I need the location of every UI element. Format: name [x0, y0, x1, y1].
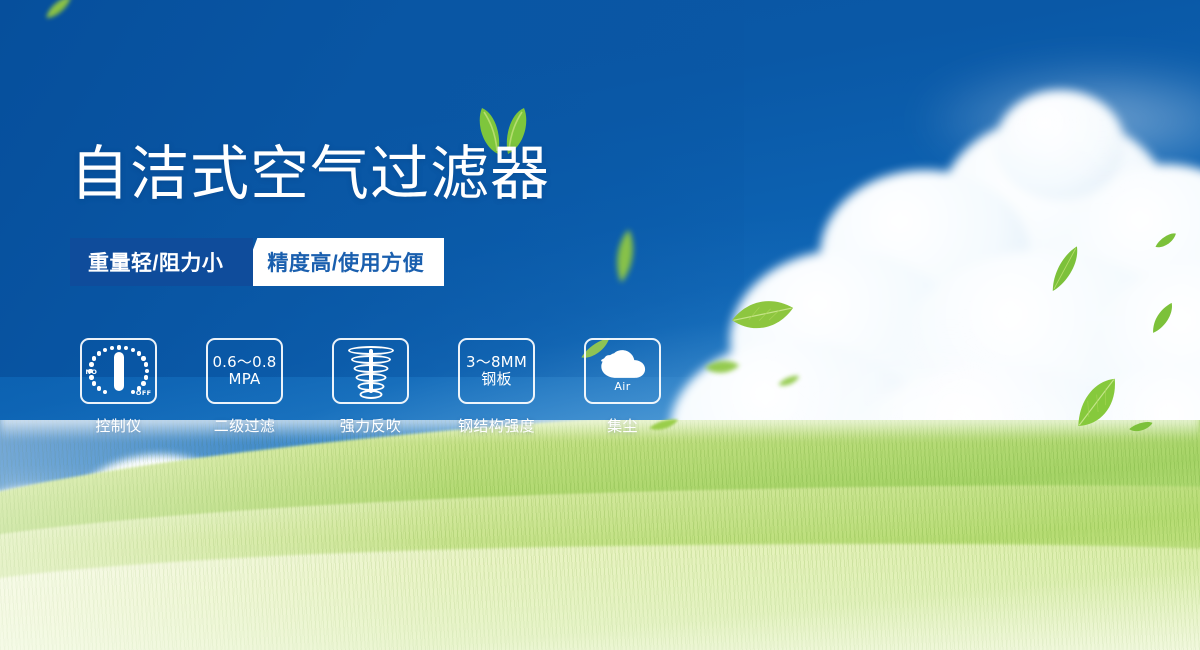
feature-item-controller[interactable]: NO OFF 控制仪: [80, 338, 157, 436]
feature-label: 钢结构强度: [458, 415, 535, 436]
feature-icon-text: 0.6～0.8: [212, 353, 276, 371]
feature-icon-box: [332, 338, 409, 404]
tagline-badge-secondary: 精度高/使用方便: [239, 238, 444, 286]
product-hero-banner: 自洁式空气过滤器 重量轻/阻力小 精度高/使用方便: [0, 0, 1200, 650]
feature-item-steel-strength[interactable]: 3～8MM 钢板 钢结构强度: [458, 338, 535, 436]
feature-icon-subtext: Air: [614, 380, 630, 393]
pressure-text-icon: 0.6～0.8 MPA: [212, 354, 276, 388]
feature-item-two-stage-filter[interactable]: 0.6～0.8 MPA 二级过滤: [206, 338, 283, 436]
tagline-badges: 重量轻/阻力小 精度高/使用方便: [70, 238, 444, 286]
dial-no-label: NO: [86, 368, 98, 376]
dial-needle-icon: [114, 352, 124, 391]
feature-icon-subtext: MPA: [212, 371, 276, 388]
feature-icon-box: 3～8MM 钢板: [458, 338, 535, 404]
feature-label: 控制仪: [95, 415, 141, 436]
grass-field: [0, 420, 1200, 650]
feature-item-dust-collection[interactable]: Air 集尘: [584, 338, 661, 436]
feature-label: 二级过滤: [214, 415, 276, 436]
cloud-wisp-upper-right: [910, 60, 1200, 180]
feature-icon-box: 0.6～0.8 MPA: [206, 338, 283, 404]
stacked-rings-icon: [343, 345, 399, 397]
feature-label: 集尘: [607, 415, 638, 436]
feature-icon-box: NO OFF: [80, 338, 157, 404]
tagline-badge-primary: 重量轻/阻力小: [70, 238, 253, 286]
feature-icon-text: 3～8MM: [466, 353, 527, 371]
feature-icon-box: Air: [584, 338, 661, 404]
dial-off-label: OFF: [136, 389, 152, 397]
feature-label: 强力反吹: [340, 415, 402, 436]
steel-plate-text-icon: 3～8MM 钢板: [466, 354, 527, 388]
feature-icon-subtext: 钢板: [466, 371, 527, 388]
feature-item-pulse-jet[interactable]: 强力反吹: [332, 338, 409, 436]
feature-icon-list: NO OFF 控制仪 0.6～0.8 MPA 二级过滤: [80, 338, 661, 436]
dial-gauge-icon: NO OFF: [87, 343, 151, 399]
page-title: 自洁式空气过滤器: [70, 143, 550, 206]
air-cloud-icon: Air: [593, 345, 653, 397]
